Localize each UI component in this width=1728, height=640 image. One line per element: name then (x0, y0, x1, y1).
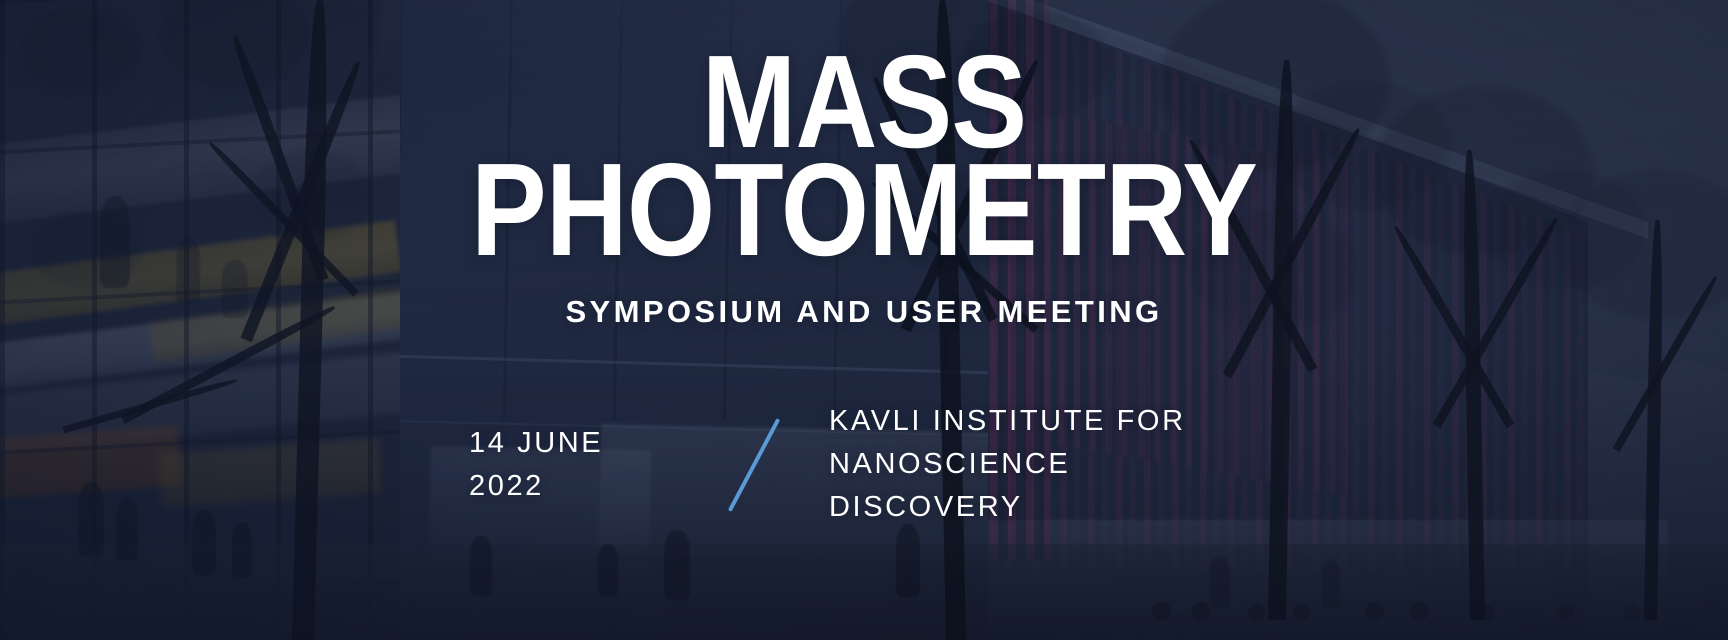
date-line-1: 14 JUNE (469, 422, 679, 465)
slash-divider (679, 417, 829, 513)
event-venue: KAVLI INSTITUTE FOR NANOSCIENCE DISCOVER… (829, 400, 1259, 529)
venue-line-2: NANOSCIENCE DISCOVERY (829, 443, 1259, 529)
banner-content: MASS PHOTOMETRY SYMPOSIUM AND USER MEETI… (0, 0, 1728, 640)
venue-line-1: KAVLI INSTITUTE FOR (829, 400, 1259, 443)
event-details: 14 JUNE 2022 KAVLI INSTITUTE FOR NANOSCI… (469, 400, 1259, 529)
event-title: MASS PHOTOMETRY (0, 44, 1728, 268)
event-date: 14 JUNE 2022 (469, 422, 679, 508)
date-line-2: 2022 (469, 465, 679, 508)
event-subtitle: SYMPOSIUM AND USER MEETING (565, 294, 1162, 330)
event-banner: MASS PHOTOMETRY SYMPOSIUM AND USER MEETI… (0, 0, 1728, 640)
diagonal-slash-icon (728, 418, 780, 512)
title-line-photometry: PHOTOMETRY (121, 152, 1607, 268)
